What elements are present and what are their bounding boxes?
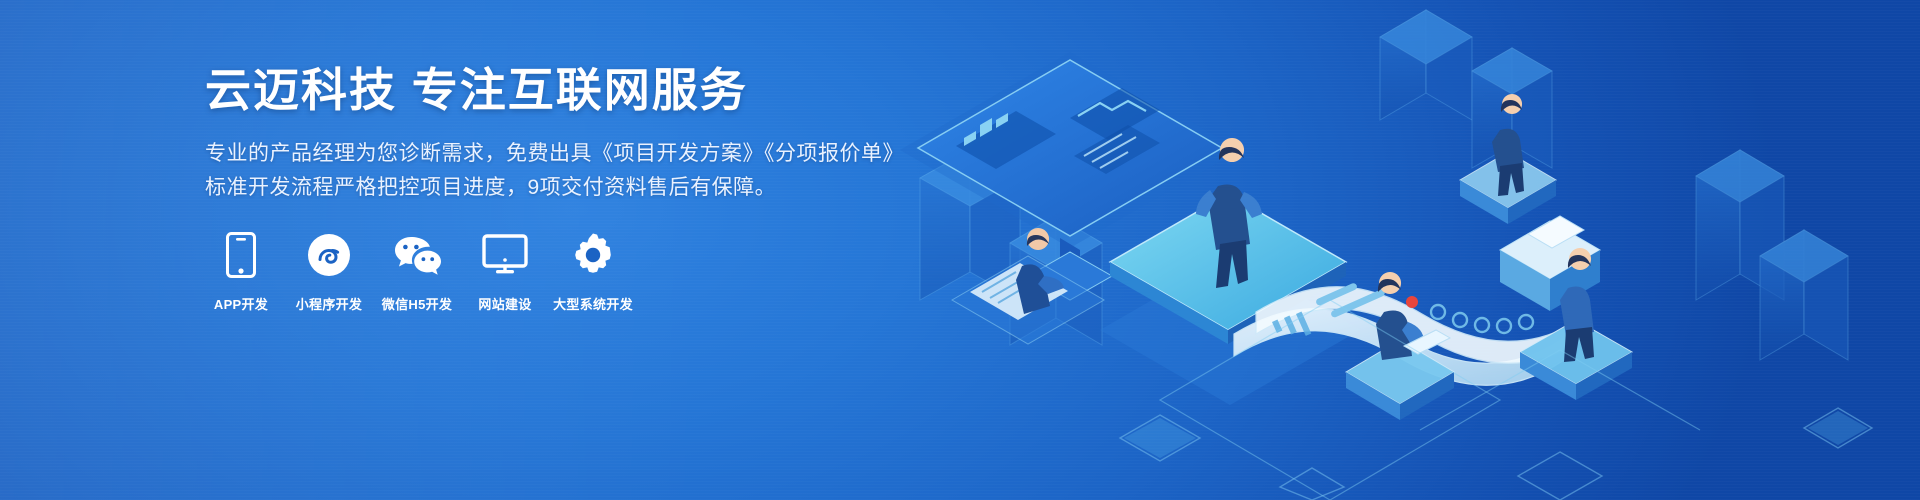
service-label-mini-program: 小程序开发 [296, 294, 363, 313]
service-list: APP开发 小程序开发 [205, 228, 645, 313]
monitor-icon [482, 228, 528, 282]
service-item-large-system[interactable]: 大型系统开发 [557, 228, 629, 313]
subtitle-line-1: 专业的产品经理为您诊断需求，免费出具《项目开发方案》《分项报价单》 [205, 137, 904, 171]
subtitle-line-2: 标准开发流程严格把控项目进度，9项交付资料售后有保障。 [205, 171, 904, 205]
service-item-wechat-h5[interactable]: 微信H5开发 [381, 228, 453, 313]
mini-program-icon [307, 228, 351, 282]
banner-subtitle: 专业的产品经理为您诊断需求，免费出具《项目开发方案》《分项报价单》 标准开发流程… [205, 137, 904, 205]
service-item-app[interactable]: APP开发 [205, 228, 277, 313]
illustration-isometric-tech-team [860, 0, 1920, 500]
service-item-mini-program[interactable]: 小程序开发 [293, 228, 365, 313]
service-label-wechat-h5: 微信H5开发 [382, 294, 452, 313]
wechat-icon [392, 228, 442, 282]
phone-icon [226, 228, 256, 282]
service-label-app: APP开发 [214, 294, 268, 313]
hero-banner: 云迈科技 专注互联网服务 专业的产品经理为您诊断需求，免费出具《项目开发方案》《… [0, 0, 1920, 500]
service-item-website[interactable]: 网站建设 [469, 228, 541, 313]
service-label-large-system: 大型系统开发 [553, 294, 633, 313]
service-label-website: 网站建设 [478, 294, 531, 313]
banner-copy: 云迈科技 专注互联网服务 专业的产品经理为您诊断需求，免费出具《项目开发方案》《… [205, 64, 904, 205]
page-title: 云迈科技 专注互联网服务 [205, 64, 904, 117]
gear-icon [570, 228, 616, 282]
